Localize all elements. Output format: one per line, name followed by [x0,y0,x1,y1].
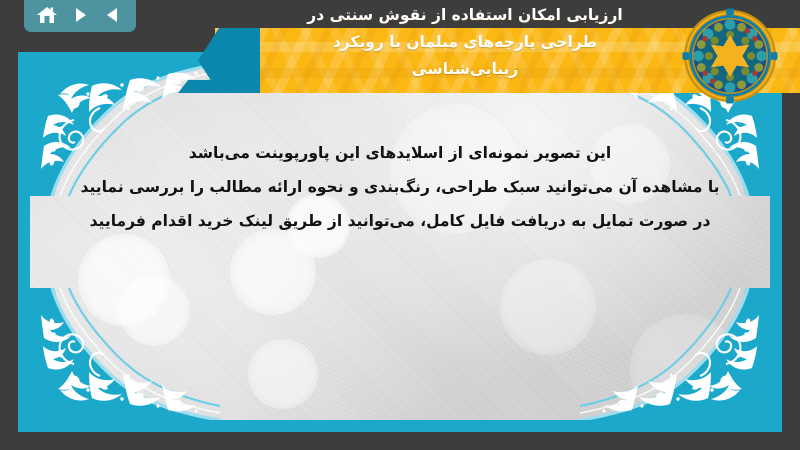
bokeh-circle [248,339,318,409]
back-arrow-icon [103,5,123,25]
title-line-1: ارزیابی امکان استفاده از نقوش سنتی در [250,2,680,29]
back-button[interactable] [100,3,126,27]
slide-canvas: این تصویر نمونه‌ای از اسلایدهای این پاور… [30,64,770,420]
forward-button[interactable] [67,3,93,27]
forward-arrow-icon [70,5,90,25]
bokeh-circle [630,314,740,420]
bokeh-circle [590,124,670,204]
content-frame: این تصویر نمونه‌ای از اسلایدهای این پاور… [18,52,782,432]
bokeh-circle [118,274,190,346]
bokeh-circle [500,259,596,355]
bokeh-circle [390,104,520,234]
home-button[interactable] [34,3,60,27]
persian-medallion-icon [682,8,778,104]
bokeh-circle [286,194,350,258]
navigation-bar [24,0,136,32]
home-icon [36,5,58,25]
slide-root: ارزیابی امکان استفاده از نقوش سنتی در طر… [0,0,800,450]
